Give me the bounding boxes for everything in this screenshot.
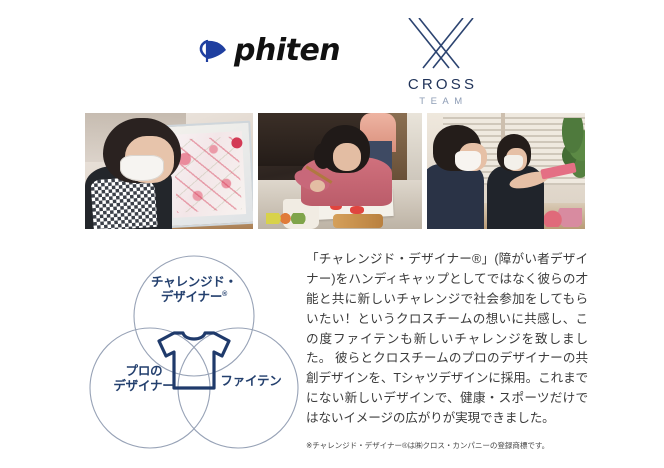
venn-circle-challenged-designer [134,256,254,376]
photo-strip [85,113,585,229]
venn-label-challenged-line2: デザイナー [161,290,222,304]
logo-bar: phiten CROSS TEAM [0,0,664,105]
photo-person-painting-at-table [258,113,422,229]
venn-label-pro-designer: プロの デザイナー [90,364,198,395]
venn-label-phiten: ファイテン [204,374,298,389]
cross-wordmark: CROSS [391,76,491,93]
photo-person-holding-artwork-tray [85,113,253,229]
phiten-phi-mark-icon [198,37,228,65]
venn-label-challenged-designer: チャレンジド・ デザイナー® [124,275,264,306]
photo-two-people-at-window-table [427,113,585,229]
venn-label-pro-line1: プロの [126,364,163,378]
venn-label-challenged-line1: チャレンジド・ [151,275,237,289]
trademark-footnote: ※チャレンジド・デザイナー®は㈱クロス・カンパニーの登録商標です。 [306,440,596,451]
cross-team-logo: CROSS TEAM [391,18,491,107]
venn-label-pro-line2: デザイナー [113,379,174,393]
phiten-wordmark: phiten [234,36,340,66]
body-copy: 「チャレンジド・デザイナー®」(障がい者デザイナー)をハンディキャップとしてでは… [306,250,588,429]
phiten-logo: phiten [198,36,340,66]
body-paragraph: 「チャレンジド・デザイナー®」(障がい者デザイナー)をハンディキャップとしてでは… [306,250,588,429]
venn-diagram: チャレンジド・ デザイナー® プロの デザイナー ファイテン [88,248,300,458]
registered-mark-icon: ® [222,291,227,298]
cross-x-mark-icon [405,57,477,74]
team-wordmark: TEAM [391,96,491,107]
